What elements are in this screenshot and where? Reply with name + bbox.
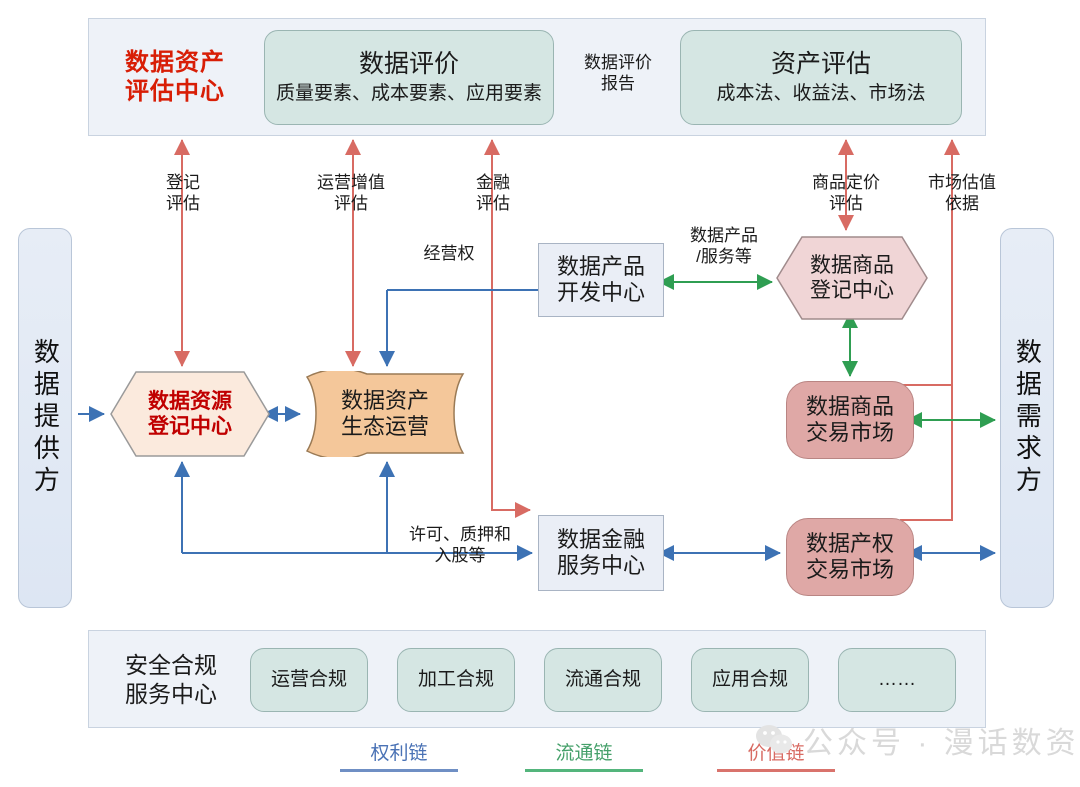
node-goodsreg-line1: 数据商品 [810,253,894,278]
evaluation-center-title-line1: 数据资产 [125,49,225,77]
legend-rights-chain: 权利链 [340,738,458,772]
label-operating-right: 经营权 [404,243,494,264]
node-data-commodity-trading-market[interactable]: 数据商品 交易市场 [786,381,914,459]
compliance-center-title: 安全合规 服务中心 [104,645,238,715]
node-data-resource-registration-center[interactable]: 数据资源 登记中心 [110,371,270,457]
legend-rights-chain-label: 权利链 [340,738,458,765]
label-commodity-pricing-eval-line2: 评估 [790,193,902,214]
label-finance-eval-line2: 评估 [448,193,538,214]
label-operating-right-text: 经营权 [404,243,494,264]
pillar-data-provider[interactable]: 数据提供方 [18,228,72,608]
card-asset-valuation-title: 资产评估 [771,50,871,80]
node-ecoops-line1: 数据资产 [341,388,429,414]
label-operation-value-eval-line1: 运营增值 [296,172,406,193]
node-data-asset-ecosystem-operation[interactable]: 数据资产 生态运营 [305,371,465,457]
card-asset-valuation-subtitle: 成本法、收益法、市场法 [716,83,925,105]
diagram-canvas: 数据资产 评估中心 数据评价 质量要素、成本要素、应用要素 资产评估 成本法、收… [0,0,1080,787]
node-finsvc-line2: 服务中心 [557,553,645,579]
legend-circulation-chain: 流通链 [525,738,643,772]
card-data-evaluation-title: 数据评价 [359,50,459,80]
node-data-product-development-center[interactable]: 数据产品 开发中心 [538,243,664,317]
node-goodsmkt-line2: 交易市场 [806,420,894,446]
label-license-pledge-line2: 入股等 [390,545,530,566]
label-commodity-pricing-eval-line1: 商品定价 [790,172,902,193]
label-commodity-pricing-eval: 商品定价 评估 [790,172,902,215]
legend-rights-chain-bar [340,769,458,772]
node-resreg-line1: 数据资源 [148,389,232,414]
legend-circulation-chain-label: 流通链 [525,738,643,765]
node-proddev-line1: 数据产品 [557,254,645,280]
chip-application-compliance[interactable]: 应用合规 [691,648,809,712]
node-ecoops-line2: 生态运营 [341,414,429,440]
chip-processing-compliance[interactable]: 加工合规 [397,648,515,712]
label-market-valuation-basis-line2: 依据 [906,193,1018,214]
label-license-pledge: 许可、质押和 入股等 [390,524,530,567]
node-data-finance-service-center[interactable]: 数据金融 服务中心 [538,515,664,591]
watermark-text: 公众号 · 漫话数资 [803,718,1080,762]
node-resreg-line2: 登记中心 [148,414,232,439]
node-proddev-line2: 开发中心 [557,280,645,306]
node-data-commodity-registration-center[interactable]: 数据商品 登记中心 [776,236,928,320]
card-data-evaluation-subtitle: 质量要素、成本要素、应用要素 [276,83,542,105]
label-license-pledge-line1: 许可、质押和 [390,524,530,545]
node-goodsreg-line2: 登记中心 [810,278,894,303]
node-rightsmkt-line1: 数据产权 [806,531,894,557]
watermark: 公众号 · 漫话数资 [755,718,1080,762]
legend-value-chain-bar [717,769,835,772]
label-data-product-service-line2: /服务等 [672,246,776,267]
node-rightsmkt-line2: 交易市场 [806,557,894,583]
compliance-center-title-line1: 安全合规 [125,651,217,680]
label-eval-report-line2: 报告 [570,73,666,94]
label-market-valuation-basis-line1: 市场估值 [906,172,1018,193]
legend-circulation-chain-bar [525,769,643,772]
chip-more[interactable]: …… [838,648,956,712]
label-finance-eval-line1: 金融 [448,172,538,193]
label-registration-eval-line2: 评估 [138,193,228,214]
card-asset-valuation[interactable]: 资产评估 成本法、收益法、市场法 [680,30,962,125]
chip-operation-compliance[interactable]: 运营合规 [250,648,368,712]
card-data-evaluation[interactable]: 数据评价 质量要素、成本要素、应用要素 [264,30,554,125]
chip-circulation-compliance[interactable]: 流通合规 [544,648,662,712]
label-data-product-service: 数据产品 /服务等 [672,225,776,268]
evaluation-center-title-line2: 评估中心 [125,78,225,106]
label-market-valuation-basis: 市场估值 依据 [906,172,1018,215]
node-finsvc-line1: 数据金融 [557,527,645,553]
pillar-data-demander[interactable]: 数据需求方 [1000,228,1054,608]
compliance-center-title-line2: 服务中心 [125,680,217,709]
label-operation-value-eval-line2: 评估 [296,193,406,214]
node-data-property-rights-trading-market[interactable]: 数据产权 交易市场 [786,518,914,596]
label-finance-eval: 金融 评估 [448,172,538,215]
label-eval-report: 数据评价 报告 [570,52,666,95]
node-goodsmkt-line1: 数据商品 [806,394,894,420]
label-registration-eval: 登记 评估 [138,172,228,215]
label-operation-value-eval: 运营增值 评估 [296,172,406,215]
wechat-icon [755,724,793,756]
evaluation-center-title: 数据资产 评估中心 [100,30,250,125]
label-eval-report-line1: 数据评价 [570,52,666,73]
label-data-product-service-line1: 数据产品 [672,225,776,246]
label-registration-eval-line1: 登记 [138,172,228,193]
